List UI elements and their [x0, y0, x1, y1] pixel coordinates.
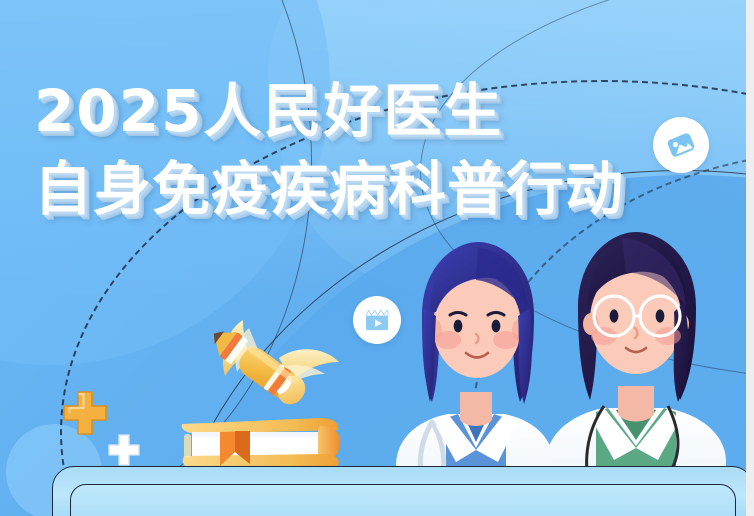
- plus-icon: [106, 432, 142, 468]
- reception-counter-front: [70, 484, 736, 516]
- title-line-2: 自身免疫疾病科普行动: [34, 160, 624, 218]
- right-gutter: [746, 0, 754, 516]
- video-icon-badge[interactable]: [353, 296, 401, 344]
- title-line-1: 2025人民好医生: [34, 82, 624, 140]
- campaign-poster: 2025人民好医生 自身免疫疾病科普行动: [0, 0, 754, 516]
- image-icon: [664, 128, 698, 162]
- plus-white-decoration: [106, 432, 142, 468]
- poster-title: 2025人民好医生 自身免疫疾病科普行动: [34, 82, 624, 218]
- image-icon-badge[interactable]: [653, 117, 709, 173]
- plus-orange-decoration: [60, 388, 110, 438]
- video-clapperboard-icon: [362, 305, 392, 335]
- plus-icon: [60, 388, 110, 438]
